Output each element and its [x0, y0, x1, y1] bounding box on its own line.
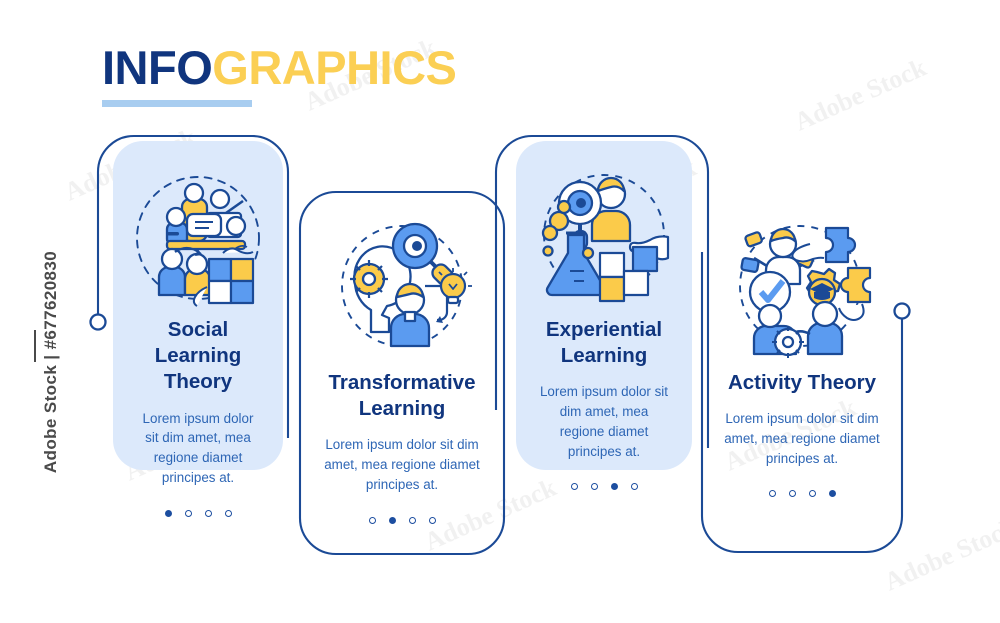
step-indicator-dots[interactable] [702, 490, 902, 497]
step-dot-3[interactable] [409, 517, 416, 524]
step-card-experiential-learning[interactable]: Experiential Learning Lorem ipsum dolor … [516, 141, 692, 470]
step-dot-4[interactable] [225, 510, 232, 517]
watermark-tick [34, 330, 36, 362]
card-title: Experiential Learning [516, 317, 692, 369]
step-dot-4[interactable] [631, 483, 638, 490]
step-icon-social-learning-theory [113, 163, 283, 313]
step-card-activity-theory[interactable]: Activity Theory Lorem ipsum dolor sit di… [702, 192, 902, 552]
step-dot-1[interactable] [165, 510, 172, 517]
step-dot-2[interactable] [185, 510, 192, 517]
card-text-block: Experiential Learning Lorem ipsum dolor … [516, 317, 692, 490]
step-indicator-dots[interactable] [300, 517, 504, 524]
card-description: Lorem ipsum dolor sit dim amet, mea regi… [113, 409, 283, 488]
step-icon-experiential-learning [516, 163, 692, 313]
watermark-label: Adobe Stock | #677620830 [41, 247, 61, 477]
step-dot-2[interactable] [591, 483, 598, 490]
step-dot-2[interactable] [389, 517, 396, 524]
step-indicator-dots[interactable] [113, 510, 283, 517]
card-title: Activity Theory [702, 370, 902, 396]
step-card-social-learning-theory[interactable]: Social Learning Theory Lorem ipsum dolor… [113, 141, 283, 470]
card-description: Lorem ipsum dolor sit dim amet, mea regi… [300, 435, 504, 494]
card-description: Lorem ipsum dolor sit dim amet, mea regi… [516, 382, 692, 461]
step-dot-3[interactable] [205, 510, 212, 517]
step-dot-1[interactable] [571, 483, 578, 490]
step-dot-4[interactable] [829, 490, 836, 497]
step-icon-transformative-learning [300, 214, 504, 364]
card-title: Transformative Learning [300, 370, 504, 422]
track-endpoint-start [91, 315, 106, 330]
step-icon-activity-theory [702, 214, 902, 364]
step-indicator-dots[interactable] [516, 483, 692, 490]
step-card-transformative-learning[interactable]: Transformative Learning Lorem ipsum dolo… [300, 192, 504, 554]
card-description: Lorem ipsum dolor sit dim amet, mea regi… [702, 409, 902, 468]
step-dot-1[interactable] [369, 517, 376, 524]
card-text-block: Activity Theory Lorem ipsum dolor sit di… [702, 370, 902, 497]
step-dot-3[interactable] [611, 483, 618, 490]
step-dot-4[interactable] [429, 517, 436, 524]
infographic-canvas: Adobe Stock Adobe Stock Adobe Stock Adob… [0, 0, 1000, 623]
step-dot-1[interactable] [769, 490, 776, 497]
step-dot-3[interactable] [809, 490, 816, 497]
card-text-block: Transformative Learning Lorem ipsum dolo… [300, 370, 504, 524]
card-text-block: Social Learning Theory Lorem ipsum dolor… [113, 317, 283, 517]
card-title: Social Learning Theory [113, 317, 283, 396]
step-dot-2[interactable] [789, 490, 796, 497]
